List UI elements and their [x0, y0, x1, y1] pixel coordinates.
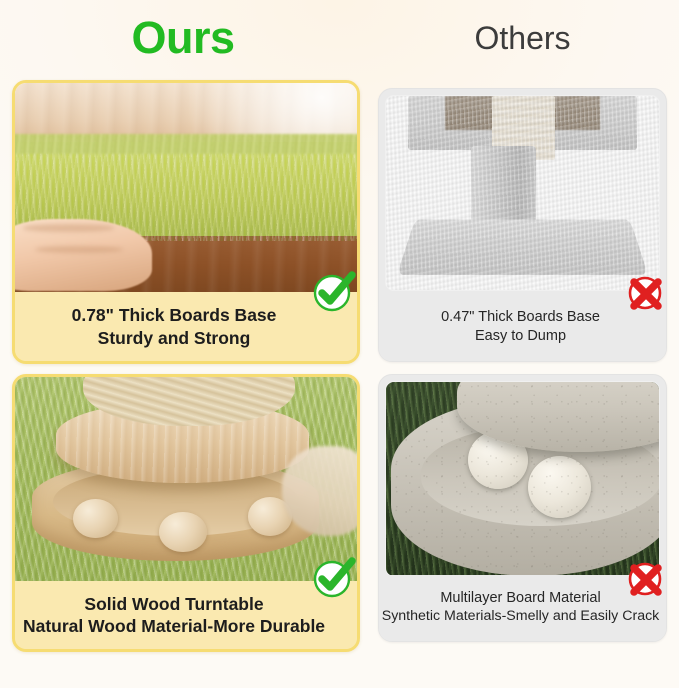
caption-line-1: 0.78" Thick Boards Base: [72, 304, 277, 326]
comparison-page: Ours Others 0.78" Thick Boards Base Stur…: [0, 0, 679, 688]
comparison-header: Ours Others: [0, 0, 679, 76]
others-caption-thickness: 0.47" Thick Boards Base Easy to Dump: [379, 295, 666, 361]
others-caption-turntable: Multilayer Board Material Synthetic Mate…: [379, 575, 666, 641]
ours-caption-thickness: 0.78" Thick Boards Base Sturdy and Stron…: [15, 292, 357, 361]
caption-line-1: Multilayer Board Material: [440, 589, 600, 608]
ours-photo-wood-turntable: [15, 377, 357, 581]
ours-card-turntable: Solid Wood Turntable Natural Wood Materi…: [12, 374, 360, 652]
others-card-turntable: Multilayer Board Material Synthetic Mate…: [378, 374, 667, 642]
caption-line-2: Easy to Dump: [475, 327, 566, 346]
ours-card-thickness: 0.78" Thick Boards Base Sturdy and Stron…: [12, 80, 360, 364]
caption-line-2: Sturdy and Strong: [98, 327, 251, 349]
others-photo-thin-base: [385, 95, 660, 291]
column-heading-ours: Ours: [0, 12, 366, 64]
caption-line-1: 0.47" Thick Boards Base: [441, 308, 600, 327]
ours-photo-thick-board: [15, 83, 357, 295]
caption-line-2: Synthetic Materials-Smelly and Easily Cr…: [382, 607, 660, 625]
ours-caption-turntable: Solid Wood Turntable Natural Wood Materi…: [15, 581, 357, 649]
others-card-thickness: 0.47" Thick Boards Base Easy to Dump: [378, 88, 667, 362]
column-heading-others: Others: [366, 20, 679, 57]
others-photo-composite-turntable: [385, 381, 660, 577]
caption-line-1: Solid Wood Turntable: [84, 593, 263, 615]
caption-line-2: Natural Wood Material-More Durable: [23, 615, 325, 637]
